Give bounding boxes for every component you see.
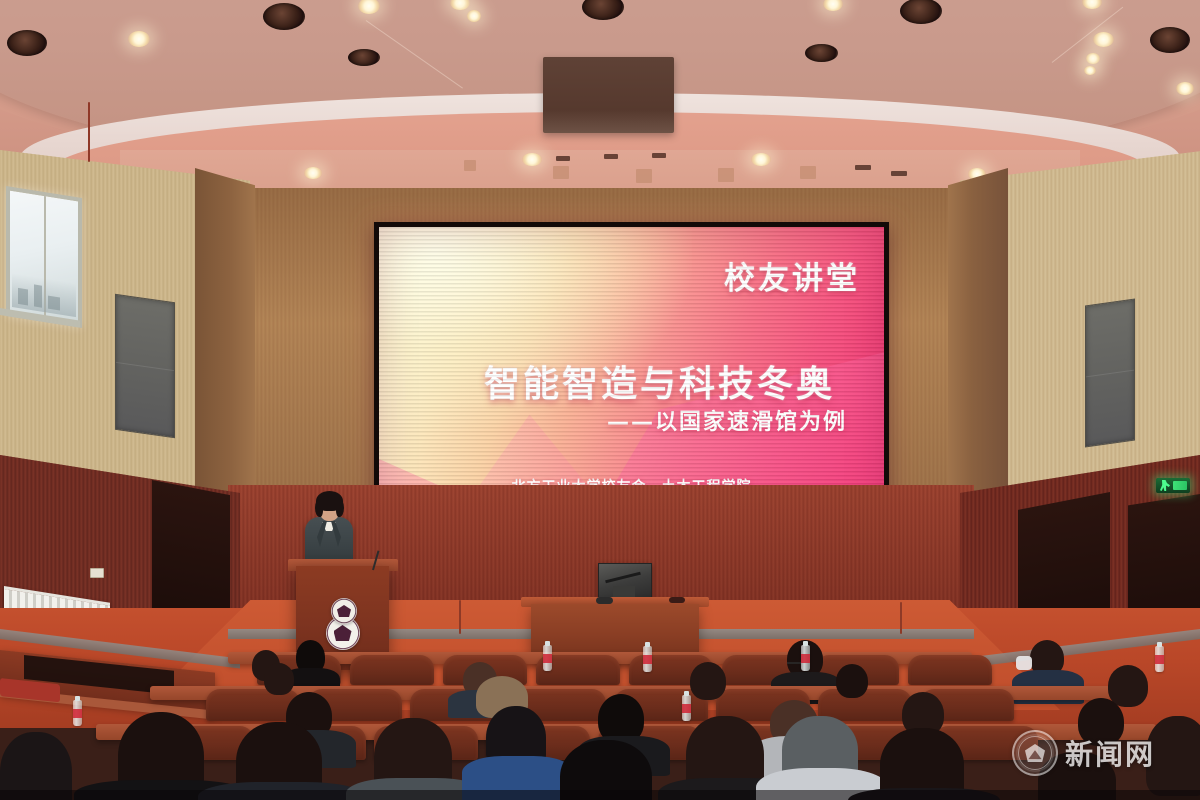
- window-building: [34, 284, 42, 307]
- lectern-cable: [88, 102, 90, 162]
- ceiling-downlight: [128, 31, 150, 47]
- wall-switch-plate[interactable]: [90, 568, 104, 578]
- emblem-shield-icon: [337, 605, 351, 617]
- audience-seat: [908, 655, 992, 685]
- ceiling-downlight: [467, 10, 481, 22]
- ceiling-spotlight-can: [1150, 27, 1190, 53]
- water-bottle[interactable]: [682, 695, 691, 721]
- ceiling-vent: [636, 169, 652, 183]
- ceiling-downlight: [751, 153, 771, 166]
- ceiling-spotlight-can: [805, 44, 838, 62]
- bottle-cap: [545, 641, 550, 646]
- bottle-label: [682, 704, 691, 713]
- window-building: [18, 288, 28, 306]
- university-seal-icon: [1012, 730, 1058, 776]
- watermark-text: 新闻网: [1065, 733, 1155, 773]
- emergency-exit-sign: [1156, 478, 1190, 493]
- bottle-cap: [684, 691, 689, 696]
- acoustic-wall-panel: [115, 294, 175, 438]
- auditorium-photo: 校友讲堂 智能智造与科技冬奥 ——以国家速滑馆为例 北方工业大学校友会、土木工程…: [0, 0, 1200, 800]
- monitor-reflection: [605, 572, 641, 584]
- ceiling-vent: [800, 166, 816, 179]
- ceiling-vent-dark: [891, 171, 907, 176]
- water-bottle[interactable]: [801, 645, 810, 671]
- wall-university-emblem-icon: [331, 598, 357, 624]
- water-bottle[interactable]: [643, 646, 652, 672]
- ceiling-downlight: [522, 153, 542, 166]
- ceiling-vent-dark: [604, 154, 618, 159]
- floor-cable: [900, 602, 902, 634]
- presenter-lapel-right: [331, 521, 341, 547]
- floor-cable: [459, 600, 461, 634]
- exit-text-icon: [1173, 481, 1187, 490]
- side-window: [6, 186, 82, 328]
- bottle-label: [543, 654, 552, 663]
- ceiling-vent-dark: [855, 165, 871, 170]
- ceiling-spotlight-can: [7, 30, 47, 56]
- water-bottle[interactable]: [543, 645, 552, 671]
- audience-head: [690, 662, 726, 700]
- desk-device[interactable]: [596, 597, 613, 604]
- right-wall-corner: [948, 168, 1008, 515]
- slide-subtitle-text: ——以国家速滑馆为例: [607, 404, 847, 436]
- left-wall-corner: [195, 168, 255, 515]
- running-man-icon: [1160, 480, 1170, 491]
- bottle-label: [1155, 655, 1164, 664]
- acoustic-wall-panel: [1085, 298, 1135, 447]
- ceiling-downlight: [1176, 82, 1194, 95]
- slide-title-text: 智能智造与科技冬奥: [484, 355, 835, 407]
- ceiling-vent: [718, 168, 734, 182]
- ceiling-spotlight-can: [348, 49, 380, 66]
- face-mask: [1016, 656, 1032, 670]
- ceiling-vent-dark: [652, 153, 666, 158]
- presenter-hair-left: [315, 500, 323, 517]
- audience-head: [264, 663, 294, 695]
- foreground-shadow: [0, 790, 1200, 800]
- ceiling-downlight: [1093, 32, 1114, 47]
- eyeglasses: [787, 662, 801, 664]
- slide-header-text: 校友讲堂: [724, 253, 860, 298]
- water-bottle[interactable]: [1155, 646, 1164, 672]
- bottle-cap: [645, 642, 650, 647]
- bottle-label: [643, 655, 652, 664]
- ceiling-downlight: [1086, 53, 1100, 64]
- bottle-label: [73, 709, 82, 718]
- ceiling-projector-housing: [543, 57, 674, 133]
- ceiling-downlight: [1084, 66, 1096, 75]
- water-bottle[interactable]: [73, 700, 82, 726]
- bottle-cap: [75, 696, 80, 701]
- ceiling-vent: [464, 160, 476, 171]
- bottle-cap: [803, 641, 808, 646]
- ceiling-vent-dark: [556, 156, 570, 161]
- bottle-cap: [1157, 642, 1162, 647]
- emblem-shield-icon: [334, 625, 352, 641]
- news-watermark: 新闻网: [1012, 730, 1155, 776]
- audience-head: [836, 664, 868, 698]
- audience-seat: [350, 655, 434, 685]
- bottle-label: [801, 654, 810, 663]
- window-building: [48, 296, 60, 311]
- ceiling-downlight: [304, 167, 322, 179]
- ceiling-vent: [553, 166, 569, 179]
- presenter-lapel-left: [317, 521, 327, 547]
- desk-device[interactable]: [669, 597, 685, 603]
- ceiling-spotlight-can: [263, 3, 305, 30]
- audience-head: [1108, 665, 1148, 707]
